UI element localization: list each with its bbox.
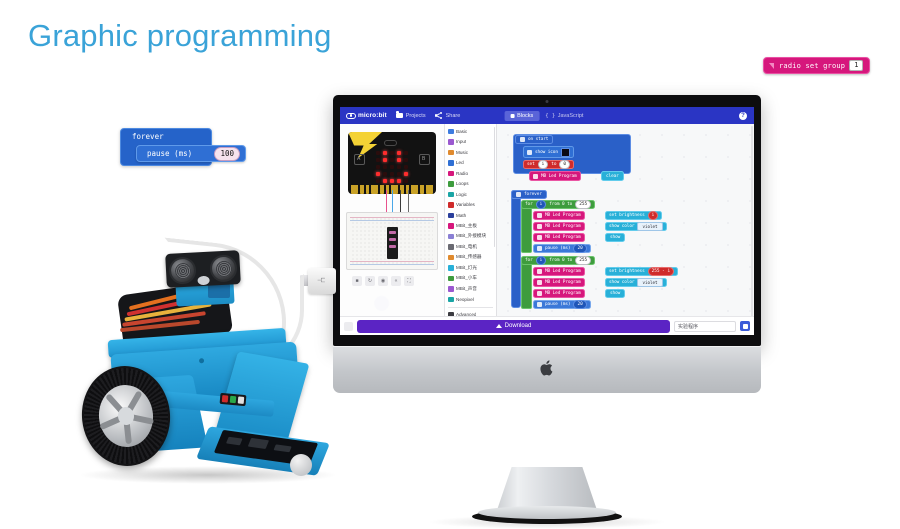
apple-logo — [540, 359, 555, 377]
category-color-icon — [448, 150, 454, 156]
project-name-value: 实验程序 — [678, 323, 698, 330]
mb-led-show-label-2: MB Led Program — [545, 291, 581, 296]
led-icon — [537, 291, 542, 296]
ultrasonic-transducer-left — [168, 256, 196, 284]
forever-block-label: forever — [132, 132, 164, 141]
page-title: Graphic programming — [28, 18, 332, 54]
mb-led-brightness-action-label-2: set brightness — [609, 269, 645, 274]
mb-led-clear-action[interactable]: clear — [601, 171, 624, 181]
led-icon — [537, 213, 542, 218]
led-pixel — [404, 179, 408, 183]
help-icon[interactable]: ? — [739, 112, 747, 120]
mb-led-brightness-label: MB Led Program — [545, 213, 581, 218]
led-pixel — [390, 151, 394, 155]
show-icon-label: show icon — [535, 150, 558, 155]
slide-root: Graphic programming radio set group 1 fo… — [0, 0, 900, 500]
grid-icon — [537, 302, 542, 307]
toolbox-scrollbar[interactable] — [494, 127, 496, 247]
mb-led-show-color-action-label-2: show color — [609, 280, 634, 285]
breadboard — [346, 212, 438, 270]
category-color-icon — [448, 255, 454, 261]
tab-javascript-label: JavaScript — [558, 113, 584, 119]
led-pixel — [376, 158, 380, 162]
led-pixel — [390, 179, 394, 183]
category-label: Led — [456, 160, 464, 165]
category-color-icon — [448, 223, 454, 229]
board-button-b[interactable]: B — [419, 154, 430, 165]
share-icon — [435, 112, 443, 119]
led-pixel — [397, 172, 401, 176]
for-range-label: from 0 to — [549, 202, 572, 207]
for-label: for — [525, 202, 533, 207]
webcam-icon — [546, 100, 549, 103]
category-label: MBit_电机 — [456, 244, 477, 250]
monitor-foot — [478, 506, 616, 519]
led-pixel — [397, 158, 401, 162]
led-pixel — [404, 151, 408, 155]
toolbox-item-input[interactable]: Input — [445, 137, 496, 148]
led-pixel — [376, 179, 380, 183]
menu-projects[interactable]: Projects — [396, 113, 426, 119]
toolbox-item-mbit[interactable]: MBit_传感器 — [445, 252, 496, 263]
mb-led-show-action-label: show — [610, 235, 620, 240]
forever-block-group[interactable]: forever pause (ms) 100 — [120, 128, 212, 166]
for-variable[interactable]: i — [536, 200, 547, 209]
makecode-body: A B — [340, 124, 754, 335]
toolbox-item-basic[interactable]: Basic — [445, 126, 496, 137]
monitor-chin — [333, 346, 761, 393]
board-button-a[interactable]: A — [354, 154, 365, 165]
mb-led-clear-action-label: clear — [606, 174, 619, 179]
led-pixel — [376, 172, 380, 176]
category-label: Radio — [456, 171, 468, 176]
mb-led-show-block[interactable]: MB Led Program — [533, 233, 585, 242]
led-pixel — [383, 165, 387, 169]
mb-led-show-color-label: MB Led Program — [545, 224, 581, 229]
pause-1-value[interactable]: 20 — [573, 244, 586, 253]
led-pixel — [397, 179, 401, 183]
category-color-icon — [448, 181, 454, 187]
toolbox-item-mbit[interactable]: MBit_外接模块 — [445, 231, 496, 242]
toolbox-item-music[interactable]: Music — [445, 147, 496, 158]
led-pixel — [404, 172, 408, 176]
download-label: Download — [505, 323, 532, 329]
pause-1-label: pause (ms) — [545, 246, 570, 251]
braces-icon: { } — [545, 113, 555, 119]
category-label: MBit_小车 — [456, 275, 477, 281]
toolbox-item-radio[interactable]: Radio — [445, 168, 496, 179]
category-color-icon — [448, 234, 454, 240]
editor-bottom-bar: Download 实验程序 — [340, 316, 754, 335]
menu-share[interactable]: Share — [435, 112, 461, 119]
mb-led-brightness-action-label: set brightness — [609, 213, 645, 218]
category-color-icon — [448, 297, 454, 303]
microbit-logo-text: micro:bit — [358, 112, 387, 119]
led-icon — [533, 174, 538, 179]
category-color-icon — [448, 265, 454, 271]
tab-javascript[interactable]: { } JavaScript — [539, 111, 589, 121]
toolbox-item-mbit[interactable]: MBit_声音 — [445, 284, 496, 295]
menu-share-label: Share — [446, 113, 461, 119]
button-a-label: A — [357, 156, 360, 162]
on-start-header[interactable]: on start — [515, 135, 553, 144]
category-color-icon — [448, 192, 454, 198]
mb-led-brightness-value-2[interactable]: 255 - i — [648, 267, 675, 276]
mb-led-brightness-block[interactable]: MB Led Program — [533, 211, 585, 220]
led-icon — [537, 280, 542, 285]
mb-led-show-color-block-2[interactable]: MB Led Program — [533, 278, 585, 287]
color-dropdown[interactable]: violet — [637, 222, 662, 231]
mb-led-show-color-label-2: MB Led Program — [545, 280, 581, 285]
led-icon — [537, 235, 542, 240]
slow-motion-icon[interactable]: « — [391, 276, 401, 286]
mb-led-show-color-block[interactable]: MB Led Program — [533, 222, 585, 231]
folder-icon — [396, 113, 403, 119]
category-label: MBit_传感器 — [456, 254, 482, 260]
blocks-icon — [511, 114, 515, 118]
restart-icon[interactable]: ↻ — [365, 276, 375, 286]
download-icon — [496, 324, 502, 328]
jumper-wires — [384, 190, 418, 214]
category-label: Basic — [456, 129, 467, 134]
download-button[interactable]: Download — [357, 320, 670, 333]
toolbox-item-math[interactable]: Math — [445, 210, 496, 221]
set-variable-block[interactable]: set i to 0 — [523, 160, 574, 169]
mb-led-show-block-2[interactable]: MB Led Program — [533, 289, 585, 298]
monitor-bezel: micro:bit Projects Share Blocks — [333, 95, 761, 346]
category-label: MBit_外接模块 — [456, 233, 486, 239]
blocks-workspace[interactable]: on start show icon set i to 0 — [497, 124, 754, 335]
show-icon-block[interactable]: show icon — [523, 146, 574, 158]
category-color-icon — [448, 171, 454, 177]
category-color-icon — [448, 139, 454, 145]
grid-icon — [516, 192, 521, 197]
microbit-logo[interactable]: micro:bit — [346, 112, 387, 119]
category-color-icon — [448, 202, 454, 208]
mb-led-show-label: MB Led Program — [545, 235, 581, 240]
microbit-logo-icon — [346, 113, 356, 119]
save-icon[interactable] — [740, 321, 750, 331]
menu-projects-label: Projects — [406, 113, 426, 119]
pause-block-value[interactable]: 100 — [214, 147, 240, 161]
toolbox-item-mbit[interactable]: MBit_主板 — [445, 221, 496, 232]
category-label: MBit_灯光 — [456, 265, 477, 271]
grid-icon — [537, 246, 542, 251]
pause-2-label: pause (ms) — [545, 302, 570, 307]
save-glyph — [743, 324, 748, 329]
led-pixel — [383, 179, 387, 183]
pause-block-2[interactable]: pause (ms) 20 — [533, 300, 591, 309]
category-color-icon — [448, 276, 454, 282]
forever-block-header[interactable]: forever — [511, 190, 547, 199]
toolbox-item-neopixel[interactable]: Neopixel — [445, 294, 496, 305]
category-color-icon — [448, 244, 454, 250]
toolbox-item-loops[interactable]: Loops — [445, 179, 496, 190]
toolbox-item-mbit[interactable]: MBit_电机 — [445, 242, 496, 253]
mb-led-show-color-action[interactable]: show color violet — [605, 222, 667, 231]
mb-led-brightness-action-2[interactable]: set brightness 255 - i — [605, 267, 678, 276]
button-b-label: B — [422, 156, 425, 162]
tab-blocks-label: Blocks — [517, 113, 533, 119]
led-pixel — [390, 165, 394, 169]
led-pixel — [383, 172, 387, 176]
toolbox-item-mbit[interactable]: MBit_小车 — [445, 273, 496, 284]
mb-led-clear-block[interactable]: MB Led Program — [529, 171, 581, 181]
fullscreen-icon[interactable]: ⛶ — [404, 276, 414, 286]
pause-2-value[interactable]: 20 — [573, 300, 586, 309]
led-pixel — [397, 165, 401, 169]
variable-value[interactable]: 0 — [559, 160, 570, 169]
tab-blocks[interactable]: Blocks — [505, 111, 540, 121]
led-pixel — [404, 165, 408, 169]
toolbox-item-mbit[interactable]: MBit_灯光 — [445, 263, 496, 274]
monitor-screen: micro:bit Projects Share Blocks — [340, 107, 754, 335]
imac-monitor: micro:bit Projects Share Blocks — [333, 95, 761, 393]
category-label: Music — [456, 150, 468, 155]
category-label: MBit_声音 — [456, 286, 477, 292]
microbit-board: A B — [348, 132, 436, 194]
set-label: set — [527, 162, 535, 167]
category-label: MBit_主板 — [456, 223, 477, 229]
category-color-icon — [448, 286, 454, 292]
pause-block-label: pause (ms) — [147, 149, 192, 158]
led-pixel — [390, 172, 394, 176]
robot-led-strip — [220, 393, 247, 406]
sensor-indicator — [197, 276, 209, 286]
to-label: to — [551, 162, 556, 167]
for-range-label-2: from 0 to — [549, 258, 572, 263]
category-label: Loops — [456, 181, 469, 186]
led-pixel — [397, 151, 401, 155]
category-label: Neopixel — [456, 297, 474, 302]
led-icon — [537, 224, 542, 229]
radio-block-label: radio set group — [779, 62, 845, 70]
on-start-label: on start — [528, 137, 548, 142]
mb-led-brightness-label-2: MB Led Program — [545, 269, 581, 274]
for-label-2: for — [525, 258, 533, 263]
pause-block-1[interactable]: pause (ms) 20 — [533, 244, 591, 253]
category-color-icon — [448, 213, 454, 219]
category-label: Logic — [456, 192, 467, 197]
forever-block-spine[interactable] — [511, 192, 521, 308]
for-range-value-2[interactable]: 255 — [575, 256, 591, 265]
grid-icon — [520, 137, 525, 142]
toolbox-item-led[interactable]: Led — [445, 158, 496, 169]
mb-led-show-action[interactable]: show — [605, 233, 625, 242]
grid-icon — [527, 150, 532, 155]
mbot-robot — [58, 248, 358, 488]
led-pixel — [383, 158, 387, 162]
breadboard-ic — [387, 227, 398, 259]
led-icon — [537, 269, 542, 274]
icon-swatch[interactable] — [561, 148, 570, 157]
for-variable-2[interactable]: i — [536, 256, 547, 265]
ultrasonic-transducer-right — [209, 254, 237, 282]
for-loop-2-header[interactable]: for i from 0 to 255 — [521, 256, 595, 265]
category-color-icon — [448, 160, 454, 166]
workspace-scrollbar-vertical[interactable] — [751, 126, 753, 325]
radio-wave-icon — [769, 63, 774, 69]
for-range-value[interactable]: 255 — [575, 200, 591, 209]
editor-mode-toggle[interactable]: Blocks { } JavaScript — [505, 111, 590, 121]
color-dropdown-2[interactable]: violet — [637, 278, 662, 287]
ultrasonic-sensor — [165, 250, 241, 288]
mb-led-show-color-action-2[interactable]: show color violet — [605, 278, 667, 287]
mb-led-show-color-action-label: show color — [609, 224, 634, 229]
robot-sensor-pcb — [208, 284, 230, 298]
category-label: Variables — [456, 202, 475, 207]
radio-set-group-block[interactable]: radio set group 1 — [763, 57, 870, 74]
category-label: Math — [456, 213, 466, 218]
mb-led-clear-label: MB Led Program — [541, 174, 577, 179]
robot-caster-wheel — [290, 454, 312, 476]
makecode-header: micro:bit Projects Share Blocks — [340, 107, 754, 124]
debug-icon[interactable]: ◉ — [378, 276, 388, 286]
simulator-controls[interactable]: ■ ↻ ◉ « ⛶ — [352, 276, 414, 286]
project-name-input[interactable]: 实验程序 — [674, 321, 736, 332]
forever-ws-label: forever — [524, 192, 542, 197]
category-color-icon — [448, 129, 454, 135]
mb-led-brightness-value[interactable]: i — [648, 211, 659, 220]
mb-led-brightness-action[interactable]: set brightness i — [605, 211, 662, 220]
for-loop-1-header[interactable]: for i from 0 to 255 — [521, 200, 595, 209]
mb-led-brightness-block-2[interactable]: MB Led Program — [533, 267, 585, 276]
pause-block[interactable]: pause (ms) 100 — [136, 145, 246, 162]
led-pixel — [376, 151, 380, 155]
radio-block-value[interactable]: 1 — [849, 60, 863, 71]
led-pixel — [383, 151, 387, 155]
led-pixel — [390, 158, 394, 162]
led-pixel — [404, 158, 408, 162]
led-pixel — [376, 165, 380, 169]
category-label: Input — [456, 139, 466, 144]
toolbox-divider — [448, 307, 493, 308]
blocks-toolbox[interactable]: BasicInputMusicLedRadioLoopsLogicVariabl… — [445, 124, 497, 335]
board-chip-icon — [384, 140, 397, 146]
toolbox-item-variables[interactable]: Variables — [445, 200, 496, 211]
mb-led-show-action-2[interactable]: show — [605, 289, 625, 298]
led-matrix — [376, 151, 408, 183]
toolbox-item-logic[interactable]: Logic — [445, 189, 496, 200]
variable-name[interactable]: i — [538, 160, 549, 169]
mb-led-show-action-label-2: show — [610, 291, 620, 296]
